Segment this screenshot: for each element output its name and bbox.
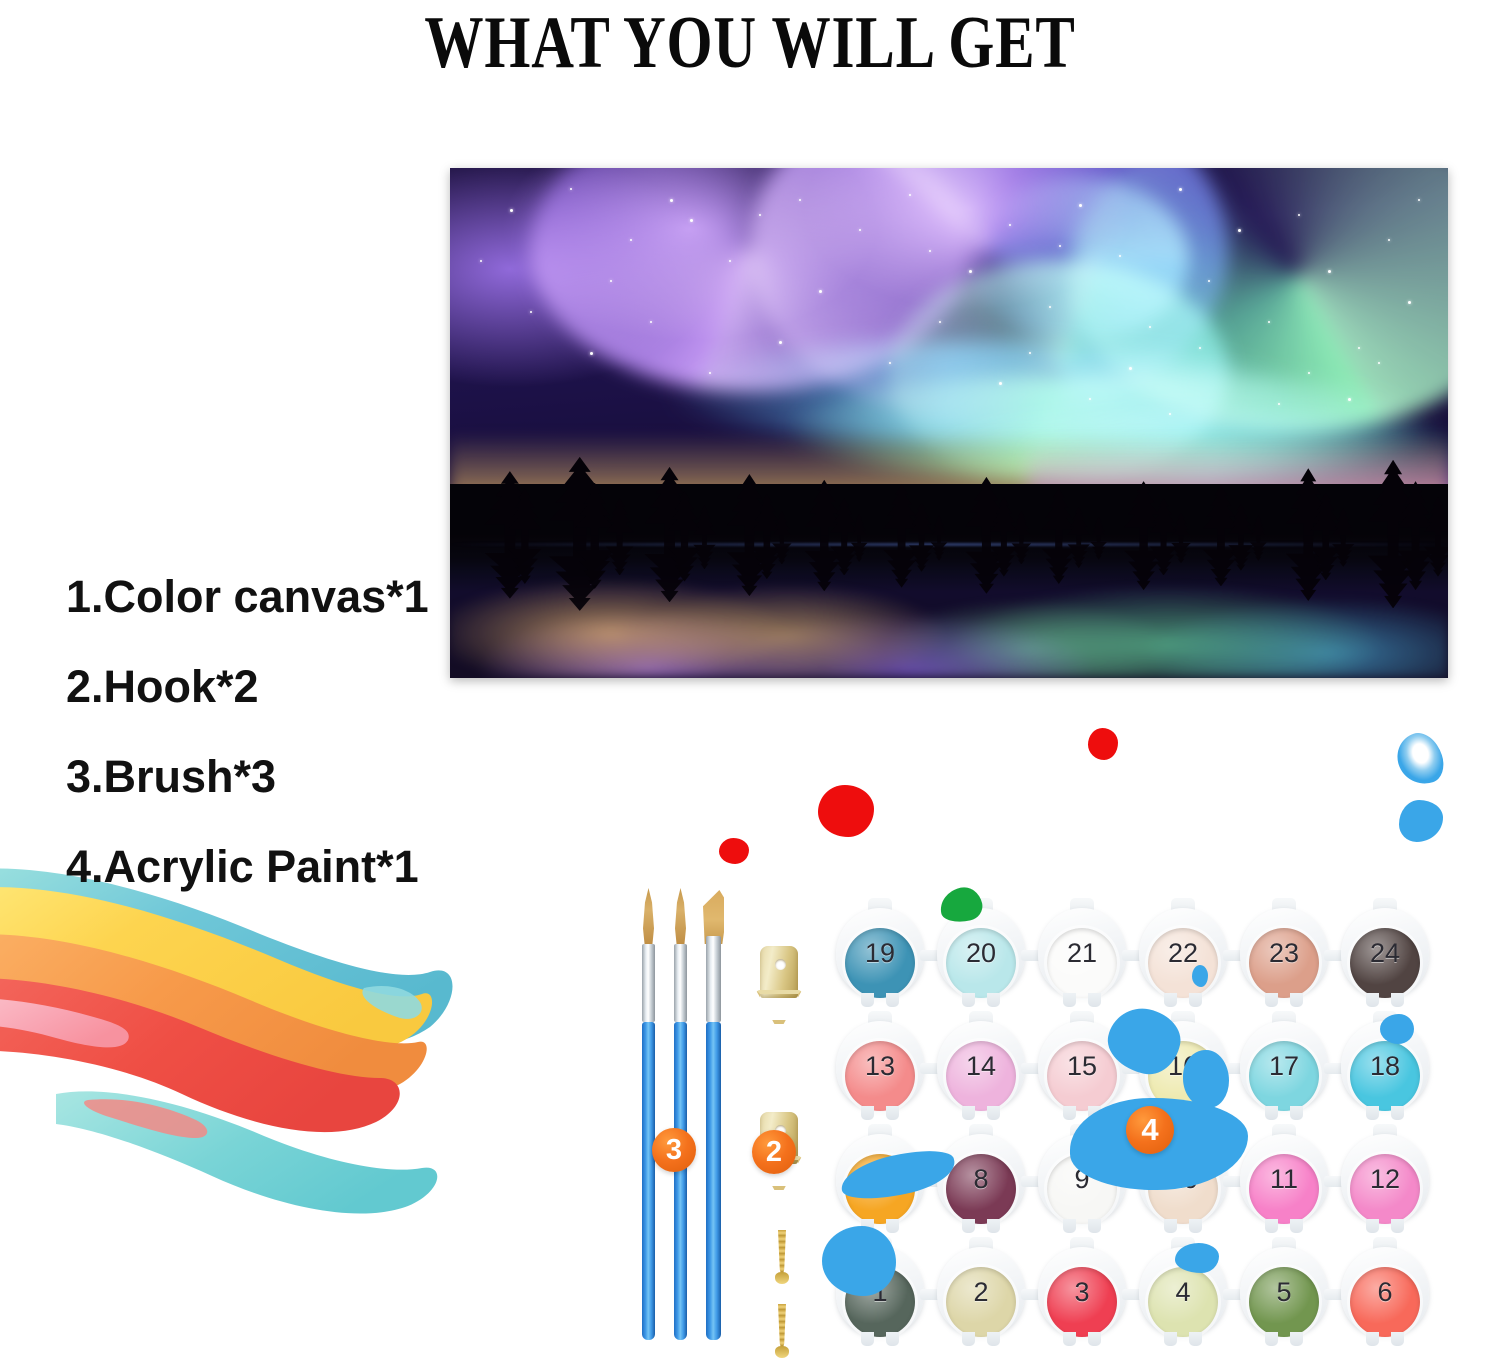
star [889,362,891,364]
screw-shaft [778,1304,786,1352]
pot-number-label: 14 [937,1031,1025,1101]
paint-pot-2: 2 [937,1237,1025,1341]
star [670,199,673,202]
paint-pot-24: 24 [1341,898,1429,1002]
star [590,352,593,355]
screw-icon [775,1304,789,1366]
pot-feet [961,1106,1001,1120]
star [690,219,693,222]
paint-pot-5: 5 [1240,1237,1328,1341]
pot-number-label: 21 [1038,918,1126,988]
paint-pot-19: 19 [836,898,924,1002]
pot-number-label: 16 [1139,1031,1227,1101]
paint-smear-graphic [0,862,580,1282]
pot-number-label: 9 [1038,1144,1126,1214]
star [1129,367,1132,370]
screw-head [775,1272,789,1284]
pot-number-label: 17 [1240,1031,1328,1101]
paint-pot-13: 13 [836,1011,924,1115]
paint-pot-17: 17 [1240,1011,1328,1115]
included-items-list: 1.Color canvas*1 2.Hook*2 3.Brush*3 4.Ac… [66,552,496,912]
star [1009,224,1011,226]
pot-number-label: 6 [1341,1257,1429,1327]
pot-number-label: 22 [1139,918,1227,988]
star [610,280,612,282]
star [570,188,572,190]
acrylic-paint-smear [0,862,580,1282]
pine-tree-silhouettes [450,403,1448,546]
pot-number-label: 3 [1038,1257,1126,1327]
paint-pot-3: 3 [1038,1237,1126,1341]
star [819,290,822,293]
paint-pot-8: 8 [937,1124,1025,1228]
pot-feet [1062,993,1102,1007]
brush-handle [642,1022,655,1340]
pot-feet [1062,1106,1102,1120]
star [1348,398,1351,401]
star [510,209,513,212]
paint-pot-6: 6 [1341,1237,1429,1341]
brush-handle [706,1022,721,1340]
blue-paint-splotch-lower [1399,800,1443,842]
star [1388,239,1390,241]
blue-paint-splotch-upper [1391,727,1449,790]
pot-number-label: 23 [1240,918,1328,988]
star [729,260,731,262]
star [1179,188,1182,191]
pot-number-label: 7 [836,1144,924,1214]
brush-ferrule [706,936,721,1022]
star [909,194,911,196]
pine-tree-reflections [450,535,1448,668]
star [799,199,801,201]
pot-feet [1163,1332,1203,1346]
pot-number-label: 24 [1341,918,1429,988]
list-item: 4.Acrylic Paint*1 [66,822,496,912]
pot-number-label: 1 [836,1257,924,1327]
pot-feet [860,1332,900,1346]
pot-feet [1264,993,1304,1007]
pot-number-label: 4 [1139,1257,1227,1327]
star [759,214,761,216]
paint-pot-9: 9 [1038,1124,1126,1228]
pot-feet [1264,1219,1304,1233]
star [1328,270,1331,273]
pot-feet [860,1106,900,1120]
brush-handle [674,1022,687,1340]
pot-number-label: 10 [1139,1144,1227,1214]
red-paint-blob-medium [1088,728,1118,760]
screw-head [775,1346,789,1358]
paint-pot-1: 1 [836,1237,924,1341]
brush-ferrule [642,944,655,1022]
pot-feet [1163,1219,1203,1233]
pot-number-label: 15 [1038,1031,1126,1101]
paint-brush-set [636,890,728,1340]
pot-feet [1365,993,1405,1007]
star [1418,199,1420,201]
pot-feet [961,1219,1001,1233]
product-canvas-image [450,168,1448,678]
list-item: 1.Color canvas*1 [66,552,496,642]
pot-feet [1163,993,1203,1007]
star [1029,352,1031,354]
pot-feet [1365,1106,1405,1120]
star [779,341,782,344]
pot-feet [961,1332,1001,1346]
paint-pot-14: 14 [937,1011,1025,1115]
hook-screw-hole-icon [775,959,786,970]
paint-count-badge: 4 [1126,1106,1174,1154]
aurora-painting [450,168,1448,678]
pine-tree-reflection [1084,535,1114,559]
pot-number-label: 5 [1240,1257,1328,1327]
pot-feet [1365,1332,1405,1346]
star [859,229,861,231]
list-item: 2.Hook*2 [66,642,496,732]
paint-pot-15: 15 [1038,1011,1126,1115]
star [1208,280,1210,282]
pot-feet [1062,1332,1102,1346]
star [480,260,482,262]
star [630,239,632,241]
paint-pot-11: 11 [1240,1124,1328,1228]
pot-number-label: 20 [937,918,1025,988]
star [1358,347,1360,349]
paint-pot-7: 7 [836,1124,924,1228]
star [969,270,972,273]
list-item: 3.Brush*3 [66,732,496,822]
pot-feet [1365,1219,1405,1233]
paint-pot-16: 16 [1139,1011,1227,1115]
pot-number-label: 12 [1341,1144,1429,1214]
hook-d-ring-icon [756,990,802,1024]
paint-pot-4: 4 [1139,1237,1227,1341]
star [530,311,532,313]
star [650,321,652,323]
star [1298,214,1300,216]
screw-shaft [778,1230,786,1278]
star [1089,398,1091,400]
star [709,372,711,374]
star [1308,372,1310,374]
hook-count-badge: 2 [752,1130,796,1174]
pot-feet [860,993,900,1007]
pot-feet [1264,1332,1304,1346]
pot-number-label: 11 [1240,1144,1328,1214]
pot-number-label: 13 [836,1031,924,1101]
star [1149,326,1151,328]
pot-number-label: 2 [937,1257,1025,1327]
brush-count-badge: 3 [652,1128,696,1172]
pot-number-label: 8 [937,1144,1025,1214]
screw-icon [775,1230,789,1292]
red-paint-blob-small [719,838,749,864]
brush-tip-icon [643,888,654,944]
brush-tip-icon [675,888,686,944]
red-paint-blob-large [818,785,874,837]
star [1049,306,1051,308]
paint-pot-21: 21 [1038,898,1126,1002]
star [1199,347,1201,349]
pot-feet [961,993,1001,1007]
star [1238,229,1241,232]
paint-pot-12: 12 [1341,1124,1429,1228]
star [939,321,941,323]
page-title: WHAT YOU WILL GET [150,2,1350,84]
paint-pot-20: 20 [937,898,1025,1002]
star [1079,204,1082,207]
star [1408,301,1411,304]
pot-feet [1062,1219,1102,1233]
paint-pot-22: 22 [1139,898,1227,1002]
pot-number-label: 19 [836,918,924,988]
paint-pot-18: 18 [1341,1011,1429,1115]
star [999,382,1002,385]
star [1059,245,1061,247]
pot-feet [860,1219,900,1233]
star [1378,362,1380,364]
star [929,250,931,252]
paint-pot-23: 23 [1240,898,1328,1002]
brush-ferrule [674,944,687,1022]
star [1268,321,1270,323]
star [1119,255,1121,257]
pot-number-label: 18 [1341,1031,1429,1101]
pot-feet [1264,1106,1304,1120]
